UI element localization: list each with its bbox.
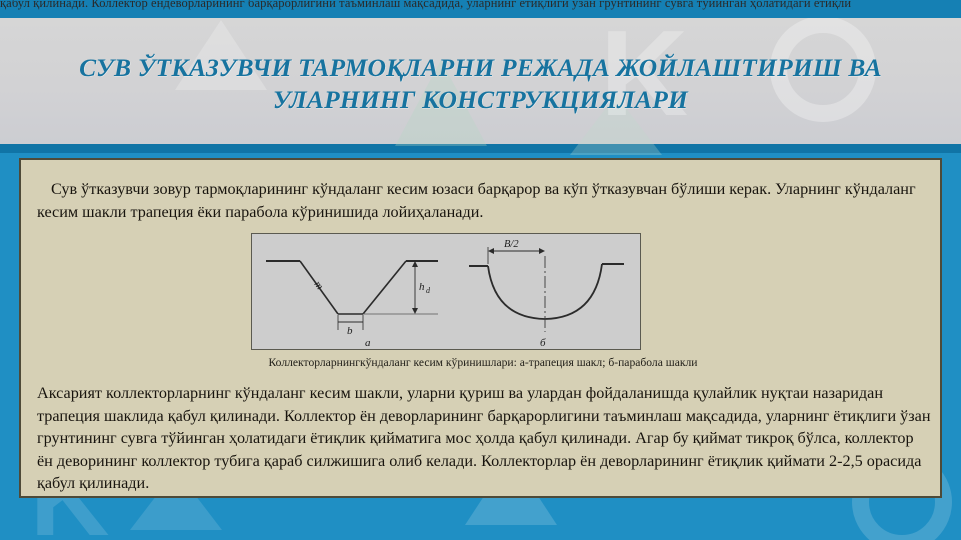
page-title-line-2: УЛАРНИНГ КОНСТРУКЦИЯЛАРИ — [25, 84, 936, 116]
figure-label-h: h — [419, 281, 425, 293]
figure-caption: Коллекторларнингкўндаланг кесим кўринишл… — [37, 356, 929, 369]
blue-accent-strip — [0, 144, 961, 153]
figure-label-panel-a: а — [365, 337, 371, 348]
page-title-line-1: СУВ ЎТКАЗУВЧИ ТАРМОҚЛАРНИ РЕЖАДА ЖОЙЛАШТ… — [25, 52, 936, 84]
content-card: Сув ўтказувчи зовур тармоқларининг кўнда… — [19, 158, 942, 498]
clipped-top-text-strip: қабул қилинади. Коллектор ёндеворларинин… — [0, 0, 961, 18]
figure-label-half-width: B/2 — [504, 239, 519, 250]
page-title: СУВ ЎТКАЗУВЧИ ТАРМОҚЛАРНИ РЕЖАДА ЖОЙЛАШТ… — [25, 52, 936, 116]
slide-canvas: K K қабул қилинади. Коллектор ёндеворлар… — [0, 0, 961, 540]
paragraph-body: Аксарият коллекторларнинг кўндаланг кеси… — [37, 382, 933, 495]
cross-section-svg: m h d b а — [252, 234, 639, 348]
paragraph-intro: Сув ўтказувчи зовур тармоқларининг кўнда… — [37, 178, 929, 223]
figure-label-h-sub: d — [426, 286, 431, 295]
figure-label-b: b — [347, 325, 353, 337]
cross-section-figure: m h d b а — [251, 233, 641, 350]
figure-label-panel-b: б — [540, 337, 546, 348]
clipped-top-text: қабул қилинади. Коллектор ёндеворларинин… — [0, 0, 851, 11]
